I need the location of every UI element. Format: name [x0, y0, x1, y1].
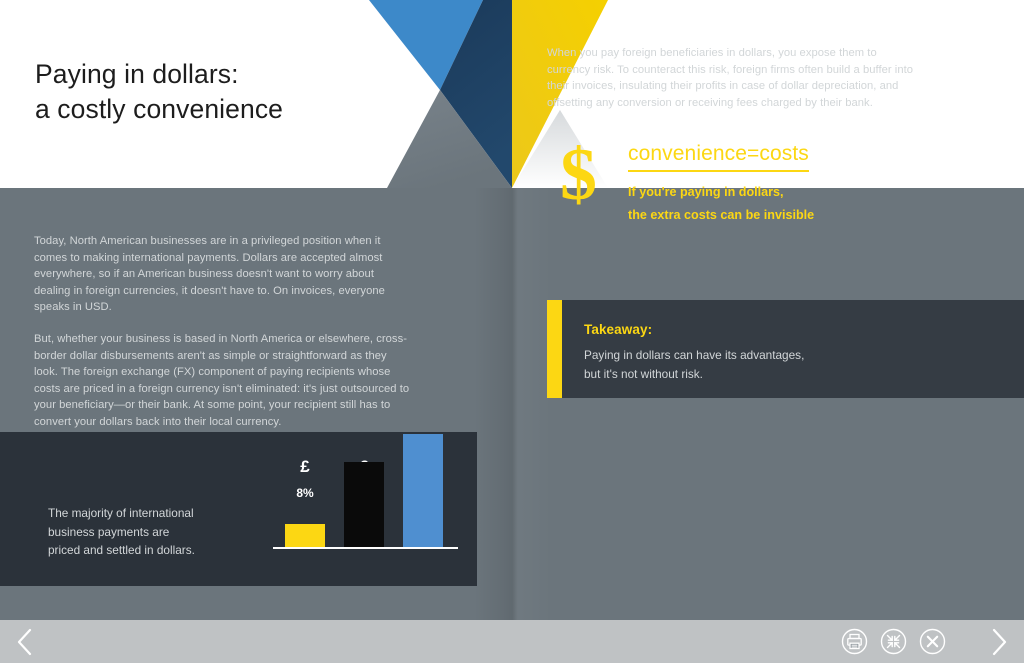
takeaway-title: Takeaway:	[584, 322, 804, 337]
close-button[interactable]	[919, 628, 946, 655]
minimize-icon	[880, 628, 907, 655]
dollar-sign-icon: $	[560, 138, 597, 212]
page-spread: Paying in dollars: a costly convenience …	[0, 0, 1024, 620]
chevron-right-icon	[989, 627, 1009, 657]
bar-usd	[403, 434, 443, 547]
page-spine-shadow	[474, 188, 552, 620]
document-viewer: Paying in dollars: a costly convenience …	[0, 0, 1024, 663]
callout-heading: convenience=costs	[628, 142, 809, 172]
convenience-costs-callout: $ convenience=costs If you're paying in …	[560, 142, 960, 232]
takeaway-body: Takeaway: Paying in dollars can have its…	[562, 300, 804, 398]
takeaway-panel: Takeaway: Paying in dollars can have its…	[547, 300, 1024, 398]
previous-page-button[interactable]	[2, 620, 48, 663]
chart-caption: The majority of international business p…	[48, 504, 263, 560]
callout-body: convenience=costs If you're paying in do…	[628, 142, 814, 226]
bar-symbol-gbp: £	[285, 457, 325, 477]
takeaway-accent-bar	[547, 300, 562, 398]
toolbar-actions	[841, 620, 946, 663]
viewer-toolbar	[0, 620, 1024, 663]
bar-value-gbp: 8%	[285, 486, 325, 500]
takeaway-text: Paying in dollars can have its advantage…	[584, 346, 804, 383]
print-icon	[841, 628, 868, 655]
paragraph-1: Today, North American businesses are in …	[34, 233, 410, 316]
currency-chart-panel: The majority of international business p…	[0, 432, 477, 586]
chevron-left-icon	[15, 627, 35, 657]
callout-subheading: If you're paying in dollars, the extra c…	[628, 181, 814, 226]
chart-baseline	[273, 547, 458, 549]
next-page-button[interactable]	[976, 620, 1022, 663]
right-body-copy: When you pay foreign beneficiaries in do…	[547, 45, 919, 111]
bar-eur	[344, 462, 384, 547]
paragraph-3: When you pay foreign beneficiaries in do…	[547, 45, 919, 111]
close-icon	[919, 628, 946, 655]
bar-chart: £ 8% €	[263, 442, 458, 582]
print-button[interactable]	[841, 628, 868, 655]
bar-gbp	[285, 524, 325, 547]
paragraph-2: But, whether your business is based in N…	[34, 331, 410, 431]
minimize-button[interactable]	[880, 628, 907, 655]
page-title: Paying in dollars: a costly convenience	[35, 57, 283, 127]
left-body-copy: Today, North American businesses are in …	[34, 233, 410, 431]
